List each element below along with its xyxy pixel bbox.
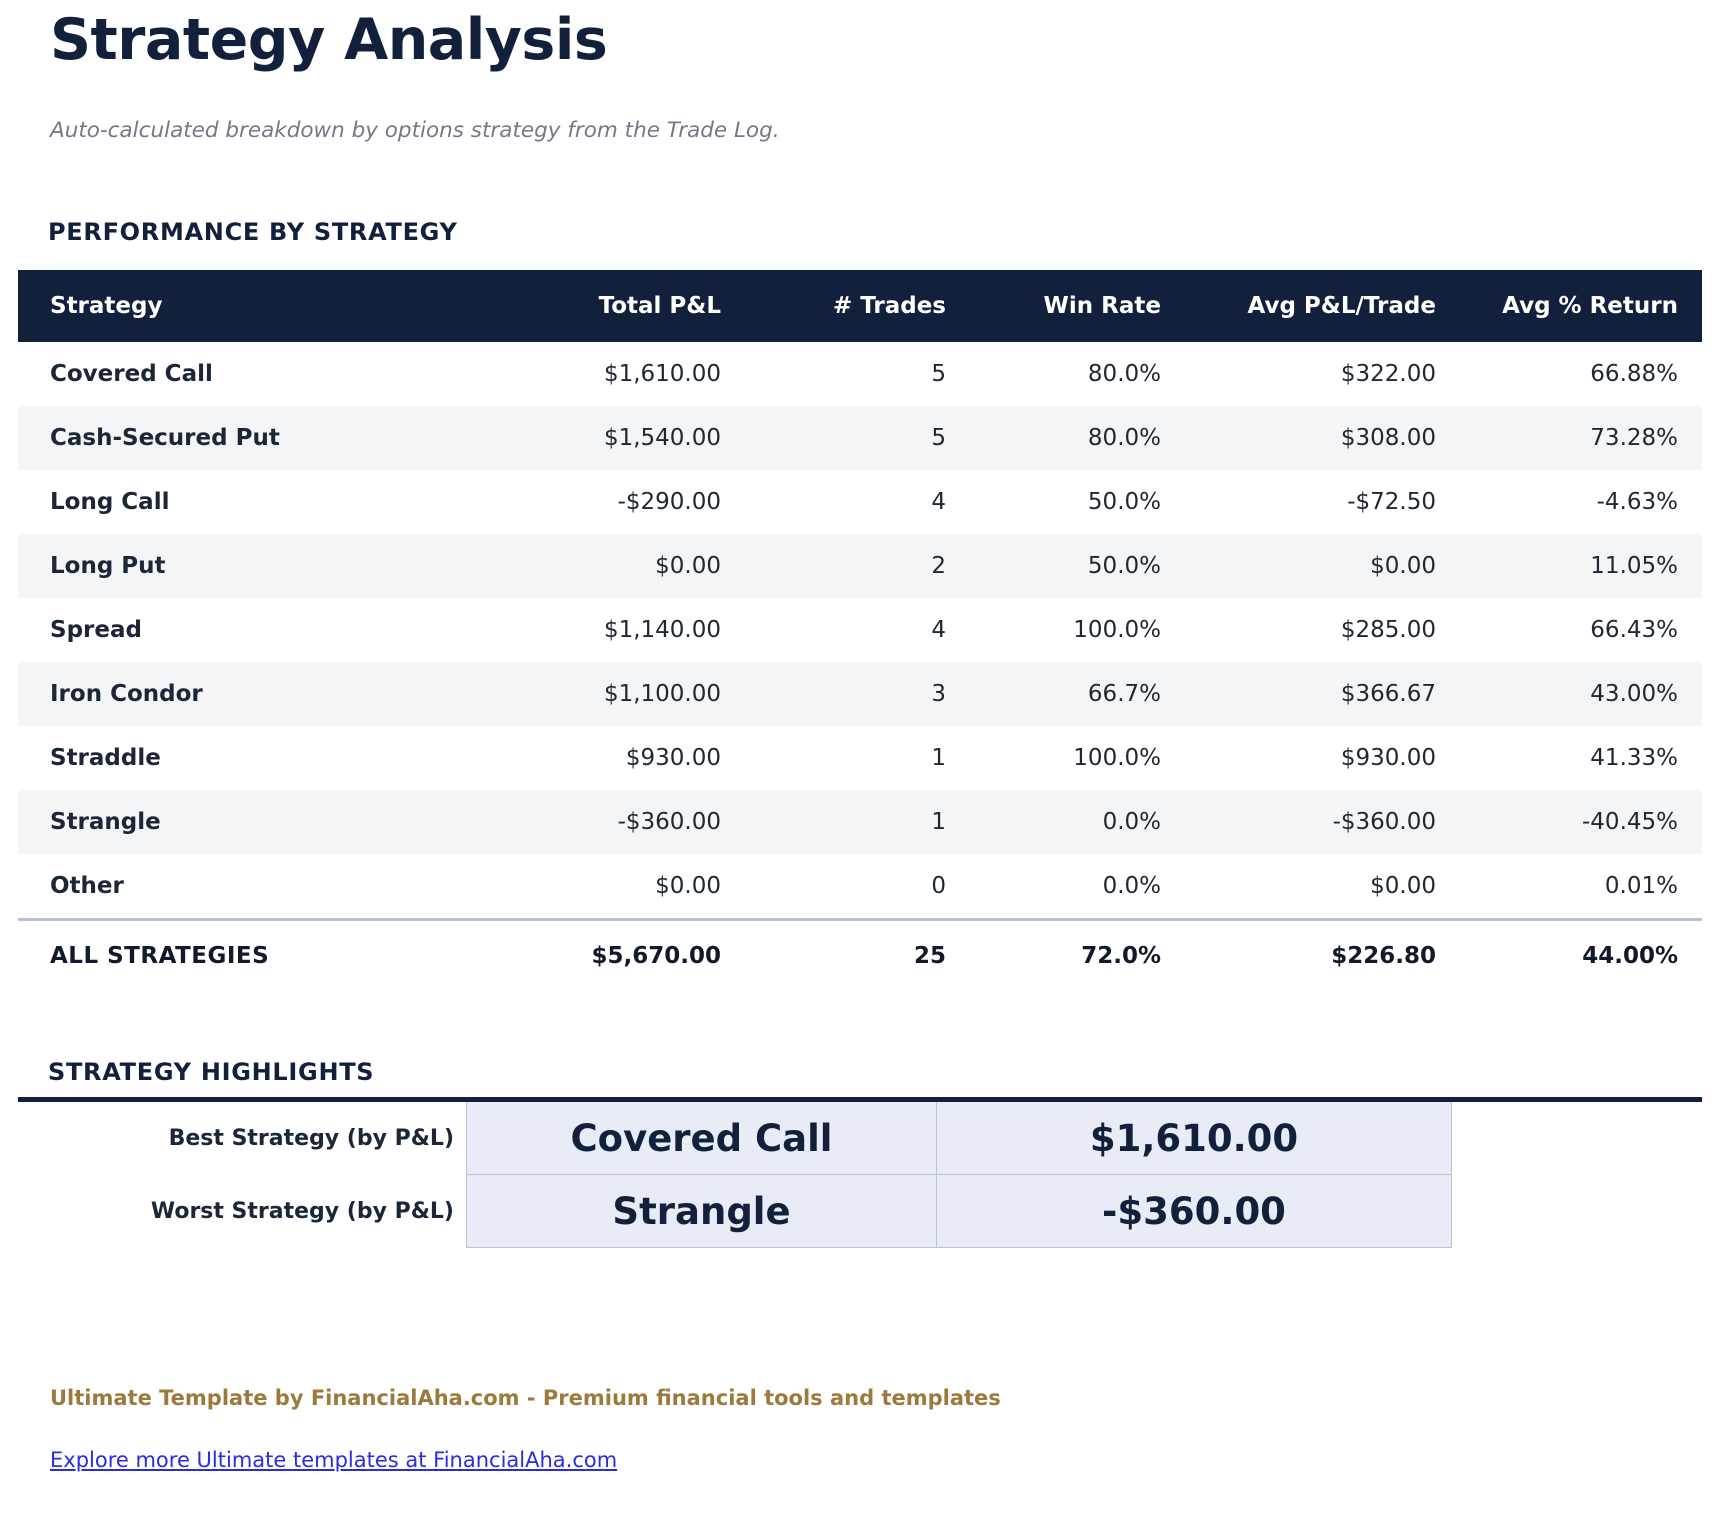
cell-avg-pl-trade: $308.00 [1185, 406, 1460, 470]
cell-avg-pct-return: 41.33% [1460, 726, 1702, 790]
cell-strategy: Long Call [18, 470, 455, 534]
total-cell-num-trades: 25 [745, 920, 970, 992]
cell-strategy: Iron Condor [18, 662, 455, 726]
table-row: Straddle$930.001100.0%$930.0041.33% [18, 726, 1702, 790]
column-header-strategy[interactable]: Strategy [18, 270, 455, 342]
table-row: Long Call-$290.00450.0%-$72.50-4.63% [18, 470, 1702, 534]
cell-avg-pl-trade: $0.00 [1185, 534, 1460, 598]
table-header-row: Strategy Total P&L # Trades Win Rate Avg… [18, 270, 1702, 342]
column-header-total-pl[interactable]: Total P&L [455, 270, 745, 342]
total-cell-strategy: ALL STRATEGIES [18, 920, 455, 992]
cell-win-rate: 0.0% [970, 854, 1185, 920]
cell-total-pl: $0.00 [455, 534, 745, 598]
cell-avg-pl-trade: $285.00 [1185, 598, 1460, 662]
total-cell-avg-pct-return: 44.00% [1460, 920, 1702, 992]
highlight-row-worst: Worst Strategy (by P&L) Strangle -$360.0… [18, 1175, 1702, 1248]
cell-avg-pct-return: 66.43% [1460, 598, 1702, 662]
strategy-highlights-table: Best Strategy (by P&L) Covered Call $1,6… [18, 1102, 1702, 1248]
table-row: Cash-Secured Put$1,540.00580.0%$308.0073… [18, 406, 1702, 470]
cell-win-rate: 100.0% [970, 726, 1185, 790]
table-row: Iron Condor$1,100.00366.7%$366.6743.00% [18, 662, 1702, 726]
cell-total-pl: $930.00 [455, 726, 745, 790]
cell-avg-pl-trade: $0.00 [1185, 854, 1460, 920]
table-row: Strangle-$360.0010.0%-$360.00-40.45% [18, 790, 1702, 854]
cell-win-rate: 66.7% [970, 662, 1185, 726]
total-cell-avg-pl-trade: $226.80 [1185, 920, 1460, 992]
strategy-analysis-page: Strategy Analysis Auto-calculated breakd… [0, 0, 1720, 1515]
cell-strategy: Straddle [18, 726, 455, 790]
cell-win-rate: 80.0% [970, 406, 1185, 470]
worst-strategy-value: -$360.00 [937, 1175, 1452, 1248]
table-row: Covered Call$1,610.00580.0%$322.0066.88% [18, 342, 1702, 406]
performance-section-heading: PERFORMANCE BY STRATEGY [48, 218, 458, 246]
best-strategy-value: $1,610.00 [937, 1102, 1452, 1175]
cell-strategy: Covered Call [18, 342, 455, 406]
cell-avg-pl-trade: -$360.00 [1185, 790, 1460, 854]
strategy-highlights-container: Best Strategy (by P&L) Covered Call $1,6… [18, 1097, 1702, 1248]
cell-strategy: Strangle [18, 790, 455, 854]
cell-strategy: Other [18, 854, 455, 920]
cell-avg-pct-return: 0.01% [1460, 854, 1702, 920]
total-cell-total-pl: $5,670.00 [455, 920, 745, 992]
table-row: Spread$1,140.004100.0%$285.0066.43% [18, 598, 1702, 662]
column-header-num-trades[interactable]: # Trades [745, 270, 970, 342]
cell-total-pl: $0.00 [455, 854, 745, 920]
performance-by-strategy-table: Strategy Total P&L # Trades Win Rate Avg… [18, 270, 1702, 991]
page-title: Strategy Analysis [50, 8, 607, 74]
cell-num-trades: 0 [745, 854, 970, 920]
cell-avg-pct-return: 11.05% [1460, 534, 1702, 598]
cell-avg-pct-return: 43.00% [1460, 662, 1702, 726]
cell-avg-pct-return: 66.88% [1460, 342, 1702, 406]
cell-avg-pct-return: -4.63% [1460, 470, 1702, 534]
cell-num-trades: 5 [745, 342, 970, 406]
highlights-spacer-cell [1452, 1175, 1703, 1248]
cell-avg-pct-return: 73.28% [1460, 406, 1702, 470]
worst-strategy-label: Worst Strategy (by P&L) [18, 1175, 467, 1248]
page-subtitle: Auto-calculated breakdown by options str… [50, 118, 780, 143]
cell-avg-pl-trade: $366.67 [1185, 662, 1460, 726]
cell-total-pl: $1,100.00 [455, 662, 745, 726]
column-header-avg-pct-return[interactable]: Avg % Return [1460, 270, 1702, 342]
cell-win-rate: 100.0% [970, 598, 1185, 662]
cell-strategy: Spread [18, 598, 455, 662]
highlights-spacer-cell [1452, 1102, 1703, 1175]
best-strategy-label: Best Strategy (by P&L) [18, 1102, 467, 1175]
cell-num-trades: 4 [745, 470, 970, 534]
cell-total-pl: $1,140.00 [455, 598, 745, 662]
cell-total-pl: $1,540.00 [455, 406, 745, 470]
table-header: Strategy Total P&L # Trades Win Rate Avg… [18, 270, 1702, 342]
cell-strategy: Long Put [18, 534, 455, 598]
performance-table-container: Strategy Total P&L # Trades Win Rate Avg… [18, 270, 1702, 991]
column-header-win-rate[interactable]: Win Rate [970, 270, 1185, 342]
cell-num-trades: 5 [745, 406, 970, 470]
cell-strategy: Cash-Secured Put [18, 406, 455, 470]
cell-win-rate: 50.0% [970, 470, 1185, 534]
table-body: Covered Call$1,610.00580.0%$322.0066.88%… [18, 342, 1702, 991]
cell-win-rate: 80.0% [970, 342, 1185, 406]
cell-total-pl: $1,610.00 [455, 342, 745, 406]
table-row: Long Put$0.00250.0%$0.0011.05% [18, 534, 1702, 598]
cell-total-pl: -$360.00 [455, 790, 745, 854]
cell-num-trades: 3 [745, 662, 970, 726]
worst-strategy-name: Strangle [467, 1175, 937, 1248]
cell-win-rate: 0.0% [970, 790, 1185, 854]
footer-explore-link[interactable]: Explore more Ultimate templates at Finan… [50, 1448, 617, 1472]
footer-branding-note: Ultimate Template by FinancialAha.com - … [50, 1386, 1001, 1410]
column-header-avg-pl-trade[interactable]: Avg P&L/Trade [1185, 270, 1460, 342]
cell-num-trades: 1 [745, 790, 970, 854]
cell-num-trades: 4 [745, 598, 970, 662]
highlight-row-best: Best Strategy (by P&L) Covered Call $1,6… [18, 1102, 1702, 1175]
cell-avg-pl-trade: $322.00 [1185, 342, 1460, 406]
highlights-section-heading: STRATEGY HIGHLIGHTS [48, 1058, 374, 1086]
cell-avg-pl-trade: $930.00 [1185, 726, 1460, 790]
table-total-row: ALL STRATEGIES$5,670.002572.0%$226.8044.… [18, 920, 1702, 992]
cell-avg-pct-return: -40.45% [1460, 790, 1702, 854]
best-strategy-name: Covered Call [467, 1102, 937, 1175]
cell-win-rate: 50.0% [970, 534, 1185, 598]
cell-num-trades: 1 [745, 726, 970, 790]
cell-total-pl: -$290.00 [455, 470, 745, 534]
total-cell-win-rate: 72.0% [970, 920, 1185, 992]
cell-num-trades: 2 [745, 534, 970, 598]
cell-avg-pl-trade: -$72.50 [1185, 470, 1460, 534]
table-row: Other$0.0000.0%$0.000.01% [18, 854, 1702, 920]
